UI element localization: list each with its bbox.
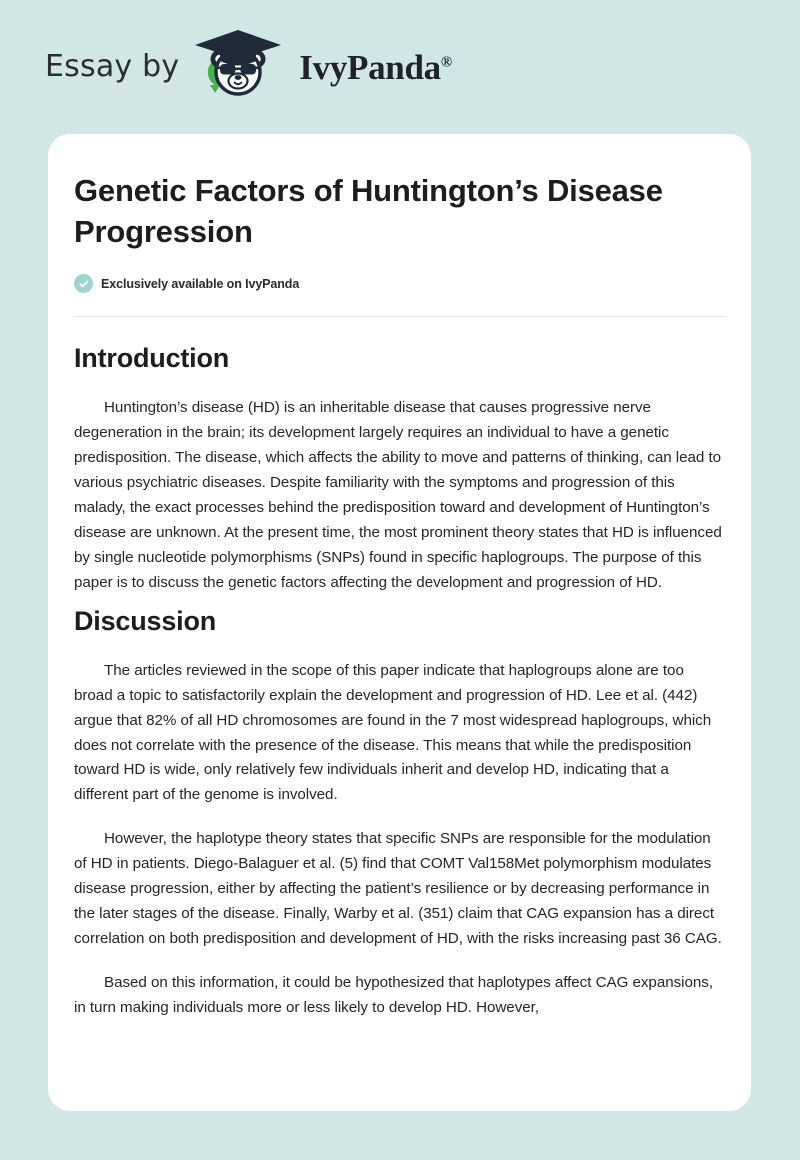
- brand-wordmark: IvyPanda®: [299, 50, 451, 85]
- exclusivity-badge-label: Exclusively available on IvyPanda: [101, 277, 299, 291]
- exclusivity-badge: Exclusively available on IvyPanda: [74, 274, 726, 293]
- site-header: Essay by: [0, 0, 800, 134]
- essay-card: Genetic Factors of Huntington’s Disease …: [48, 134, 751, 1111]
- section-spacer: [74, 596, 726, 606]
- section-paragraph: Huntington’s disease (HD) is an inherita…: [74, 396, 726, 595]
- section-heading: Discussion: [74, 606, 726, 637]
- brand-name-text: IvyPanda: [299, 48, 441, 87]
- brand-logo-link[interactable]: Essay by: [45, 28, 452, 106]
- registered-trademark-icon: ®: [441, 54, 452, 70]
- section-discussion: Discussion The articles reviewed in the …: [74, 606, 726, 1021]
- page-title: Genetic Factors of Huntington’s Disease …: [74, 170, 722, 252]
- panda-graduate-logo-icon: [193, 28, 285, 106]
- section-introduction: Introduction Huntington’s disease (HD) i…: [74, 343, 726, 595]
- section-heading: Introduction: [74, 343, 726, 374]
- section-paragraph: Based on this information, it could be h…: [74, 971, 726, 1021]
- check-circle-icon: [74, 274, 93, 293]
- essay-content: Genetic Factors of Huntington’s Disease …: [74, 170, 726, 1021]
- title-divider: [74, 316, 726, 317]
- essay-by-label: Essay by: [45, 52, 179, 82]
- section-paragraph: However, the haplotype theory states tha…: [74, 827, 726, 952]
- section-paragraph: The articles reviewed in the scope of th…: [74, 659, 726, 808]
